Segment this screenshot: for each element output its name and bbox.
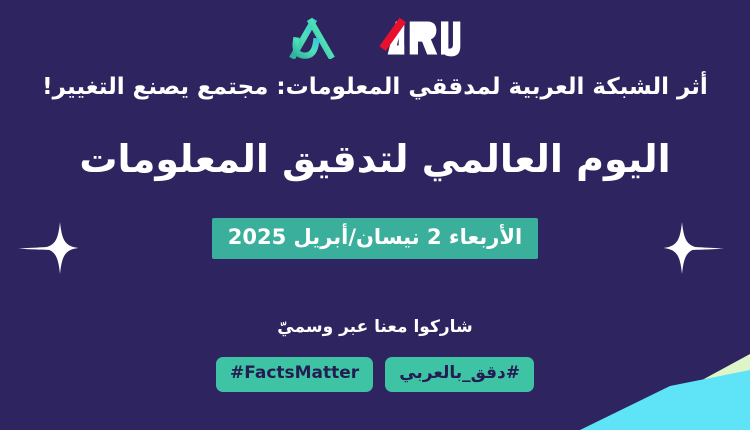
banner-subtitle: أثر الشبكة العربية لمدققي المعلومات: مجت… xyxy=(42,72,708,103)
hashtag-pill-arabic[interactable]: #دقق_بالعربي xyxy=(385,357,534,392)
hashtag-pill-facts-matter[interactable]: #FactsMatter xyxy=(216,357,373,392)
event-banner: أثر الشبكة العربية لمدققي المعلومات: مجت… xyxy=(0,0,750,430)
alpha-mark-logo xyxy=(286,17,338,59)
banner-content: أثر الشبكة العربية لمدققي المعلومات: مجت… xyxy=(0,72,750,392)
hashtag-list: #FactsMatter #دقق_بالعربي xyxy=(216,357,534,392)
share-prompt: شاركوا معنا عبر وسميّ xyxy=(277,319,472,336)
arij-logo xyxy=(372,15,464,61)
banner-title: اليوم العالمي لتدقيق المعلومات xyxy=(79,135,670,184)
logo-row xyxy=(0,12,750,64)
event-date-badge: الأربعاء 2 نيسان/أبريل 2025 xyxy=(212,218,538,259)
